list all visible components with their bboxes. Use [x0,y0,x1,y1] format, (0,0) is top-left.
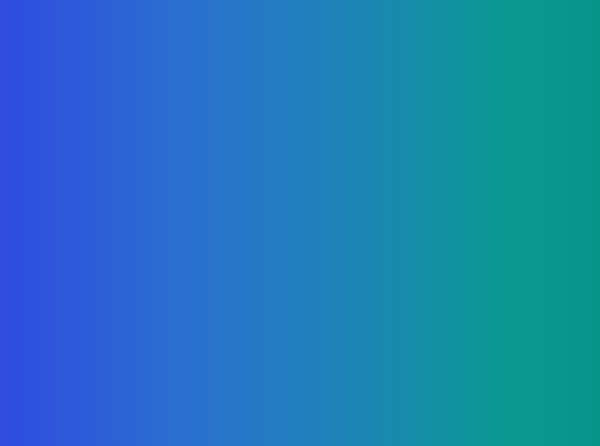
pestel-infographic: PESTEL ANALYSIS Political P [3,111,512,443]
card-title-legal: Legal [361,329,488,354]
leaf-icon [166,351,188,373]
card-title-environment: Environment [186,343,313,368]
pestel-card-technological[interactable]: Technological T Advances in AI and autom… [3,349,157,443]
download-format-icons: W X [509,265,567,397]
briefcase-icon [340,337,362,359]
dcf-bars-logo-icon [20,25,42,55]
person-icon [328,186,350,208]
card-title-economical: Economical [174,192,301,217]
bullet-list-social: Demographic shifts influencing consumer … [332,209,481,280]
card-body-legal: L Compliance with international trade la… [334,351,505,443]
word-badge-letter: W [509,275,542,308]
list-item: Political relationships with operating c… [3,291,133,309]
brand-logo[interactable]: DCF [20,25,104,55]
pestel-card-legal[interactable]: Legal L Compliance with international tr… [332,321,505,443]
pestel-card-grid: Political P Government stability impacti… [3,170,506,443]
page-root: DCF Montana Aerospace (0AAIL) PESTEL ANA… [0,0,600,446]
excel-badge-letter: X [509,349,542,382]
pestel-card-economical[interactable]: Economical E Global economic growth affe… [146,184,319,338]
card-body-social: S Demographic shifts influencing consume… [322,200,493,324]
list-item: Liability laws impacting product develop… [348,414,493,432]
list-item: Urbanization affecting market expansion. [336,262,481,280]
card-body-economical: E Global economic growth affecting marke… [148,214,319,338]
card-body-technological: T Advances in AI and automation. Cyberse… [3,379,157,443]
pestel-card-social[interactable]: Social S Demographic shifts influencing … [320,170,493,324]
bullet-list-political: Government stability impacting operation… [3,237,133,308]
card-title-social: Social [348,178,475,203]
bullet-list-legal: Compliance with international trade laws… [344,361,493,432]
card-title-technological: Technological [12,357,139,382]
microsoft-word-icon[interactable]: W [509,265,567,323]
brand-name: DCF [49,27,104,53]
bullet-list-technological: Advances in AI and automation. Cybersecu… [3,389,144,443]
bullet-list-economical: Global economic growth affecting market … [158,223,307,294]
bullet-list-environment: Regulations on electronic waste disposal… [170,375,319,443]
pestel-card-political[interactable]: Political P Government stability impacti… [3,198,145,352]
card-body-political: P Government stability impacting operati… [3,228,145,352]
card-body-environment: E Regulations on electronic waste dispos… [160,365,331,443]
card-title-political: Political [3,206,128,231]
page-content: DCF Montana Aerospace (0AAIL) PESTEL ANA… [3,3,597,443]
bar-chart-icon [154,200,176,222]
pestel-card-environment[interactable]: Environment E Regulations on electronic … [158,335,331,443]
microsoft-excel-icon[interactable]: X [509,339,567,397]
